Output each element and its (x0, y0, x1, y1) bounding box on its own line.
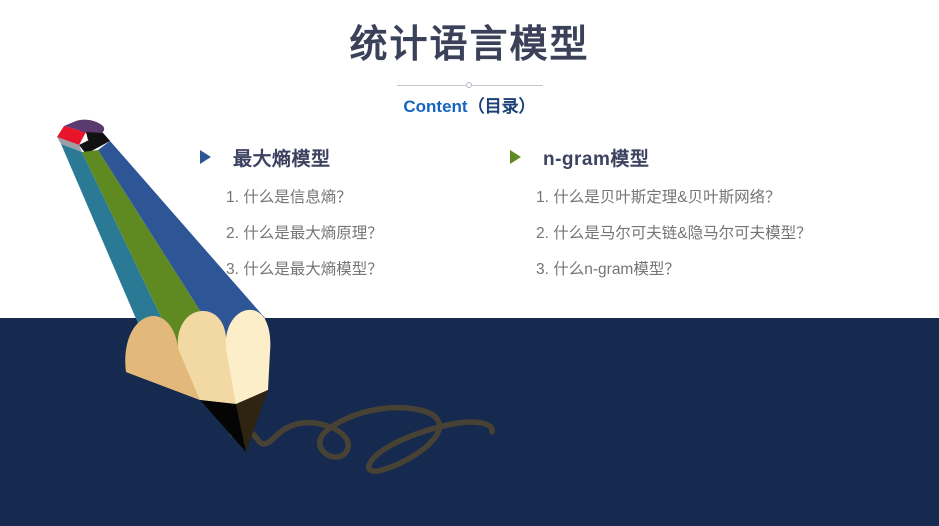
title-divider (397, 80, 543, 92)
content-subtitle-cn: （目录） (468, 97, 536, 116)
column-left-heading: 最大熵模型 (233, 144, 331, 171)
column-left-header: 最大熵模型 (200, 142, 500, 172)
slide-canvas: 统计语言模型 Content（目录） 最大熵模型 什么是信息熵？ 什么是最大熵原… (0, 0, 939, 526)
column-left-list: 什么是信息熵？ 什么是最大熵原理？ 什么是最大熵模型？ (200, 186, 500, 282)
list-item: 什么是最大熵模型？ (226, 258, 500, 282)
eraser-top (64, 121, 103, 133)
triangle-bullet-icon (510, 150, 521, 164)
list-item: 什么是贝叶斯定理&贝叶斯网络？ (536, 186, 910, 210)
list-item: 什么n-gram模型？ (536, 258, 910, 282)
column-right-heading: n-gram模型 (543, 144, 649, 171)
triangle-bullet-icon (200, 150, 211, 164)
divider-dot-icon (466, 82, 472, 88)
eraser-tip (57, 126, 86, 145)
list-item: 什么是信息熵？ (226, 186, 500, 210)
list-item: 什么是最大熵原理？ (226, 222, 500, 246)
eraser-shadow (57, 137, 82, 152)
pencil-ferrule (79, 133, 110, 154)
column-right-header: n-gram模型 (510, 142, 910, 172)
list-item: 什么是马尔可夫链&隐马尔可夫模型？ (536, 222, 910, 246)
navy-band (0, 318, 939, 526)
content-column-left: 最大熵模型 什么是信息熵？ 什么是最大熵原理？ 什么是最大熵模型？ (200, 142, 500, 294)
content-subtitle-en: Content (403, 97, 467, 116)
title-block: 统计语言模型 Content（目录） (0, 22, 939, 118)
content-subtitle: Content（目录） (0, 96, 939, 118)
content-column-right: n-gram模型 什么是贝叶斯定理&贝叶斯网络？ 什么是马尔可夫链&隐马尔可夫模… (510, 142, 910, 294)
page-title: 统计语言模型 (0, 22, 939, 70)
column-right-list: 什么是贝叶斯定理&贝叶斯网络？ 什么是马尔可夫链&隐马尔可夫模型？ 什么n-gr… (510, 186, 910, 282)
